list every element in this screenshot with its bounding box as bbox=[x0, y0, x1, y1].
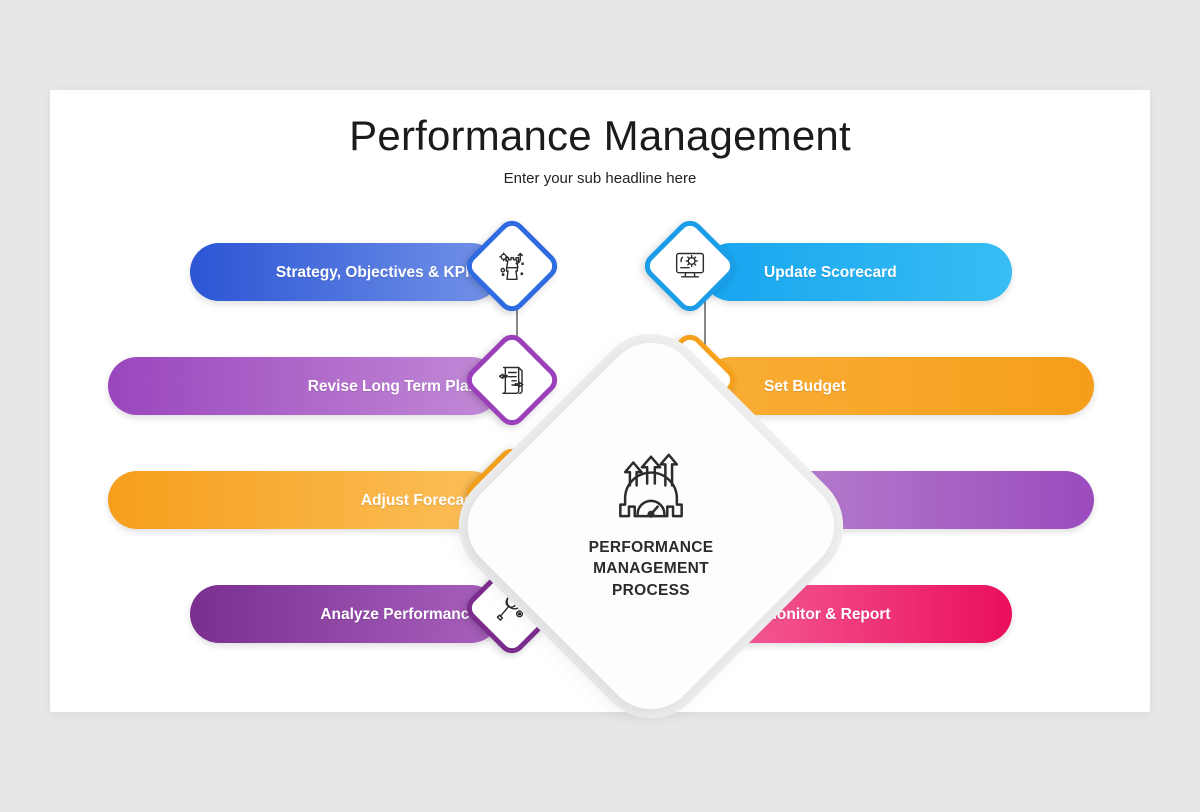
process-step-row: Revise Long Term Plan bbox=[108, 344, 540, 430]
center-diamond: PERFORMANCE MANAGEMENT PROCESS bbox=[449, 324, 853, 728]
center-label-line1: PERFORMANCE bbox=[589, 537, 714, 558]
center-label: PERFORMANCE MANAGEMENT PROCESS bbox=[589, 537, 714, 601]
page-title: Performance Management bbox=[50, 112, 1150, 160]
monitor-gear-icon bbox=[669, 245, 711, 287]
slide-canvas: Performance Management Enter your sub he… bbox=[50, 90, 1150, 712]
process-step-row: Analyze Performance bbox=[190, 572, 540, 658]
process-step-row: Update Scorecard bbox=[662, 230, 1012, 316]
page-subtitle: Enter your sub headline here bbox=[50, 170, 1150, 187]
center-label-line3: PROCESS bbox=[589, 580, 714, 601]
process-step-row: Strategy, Objectives & KPIs bbox=[190, 230, 540, 316]
center-label-line2: MANAGEMENT bbox=[589, 558, 714, 579]
strategy-chess-rook-icon bbox=[491, 245, 533, 287]
performance-gauge-arrows-icon bbox=[605, 451, 697, 523]
